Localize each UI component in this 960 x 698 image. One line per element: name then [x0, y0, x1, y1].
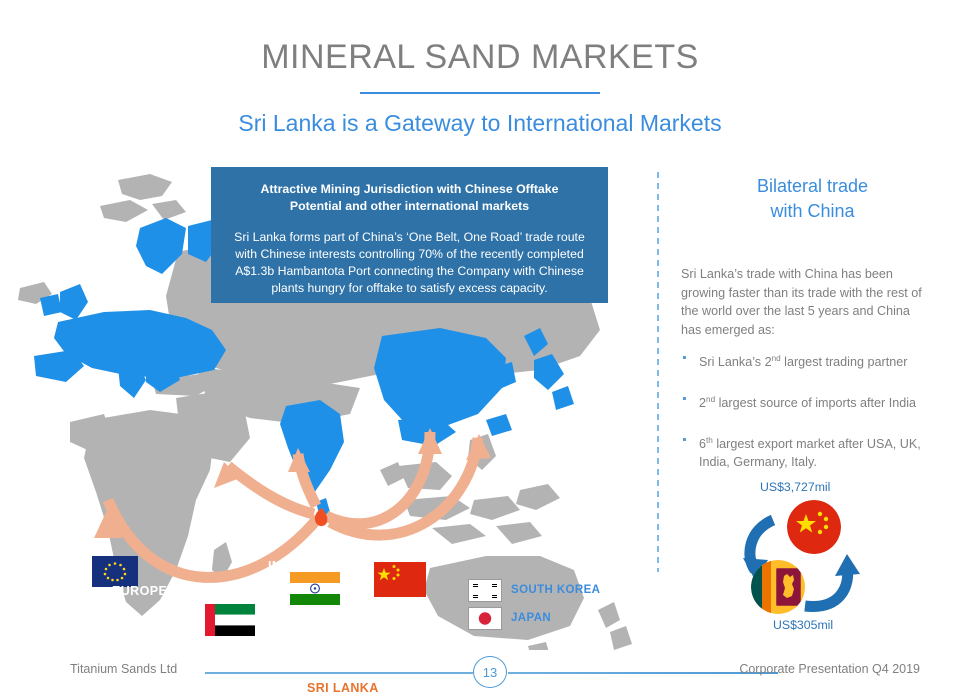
list-item: 6th largest export market after USA, UK,…	[681, 432, 933, 470]
map-label-sri-lanka: SRI LANKA	[307, 681, 379, 695]
footer-rule-right	[508, 672, 778, 674]
list-item: 2nd largest source of imports after Indi…	[681, 391, 933, 412]
bullet-text-after: largest source of imports after India	[715, 396, 916, 410]
panel-title: Bilateral trade with China	[680, 174, 945, 224]
page-number: 13	[473, 656, 507, 688]
legend-label-south-korea: SOUTH KOREA	[511, 584, 600, 596]
bullet-text-before: Sri Lanka’s 2	[699, 355, 772, 369]
page-subtitle: Sri Lanka is a Gateway to International …	[0, 110, 960, 137]
callout-heading-line2: Potential and other international market…	[227, 198, 592, 215]
japan-flag-icon	[468, 607, 502, 630]
footer-rule-left	[205, 672, 473, 674]
europe-flag-icon	[92, 556, 138, 587]
map-label-uae: UAE	[213, 592, 241, 606]
china-flag-icon	[374, 562, 426, 597]
panel-title-line2: with China	[680, 199, 945, 224]
map-label-europe: EUROPE	[112, 584, 167, 598]
legend-label-japan: JAPAN	[511, 612, 551, 624]
legend-item-south-korea: SOUTH KOREA	[468, 576, 600, 604]
map-label-india: INDIA	[268, 559, 304, 573]
callout-body: Sri Lanka forms part of China’s ‘One Bel…	[227, 229, 592, 297]
bullet-text-before: 2	[699, 396, 706, 410]
uae-flag-icon	[205, 604, 255, 636]
panel-bullet-list: Sri Lanka’s 2nd largest trading partner …	[681, 350, 933, 491]
bullet-text-before: 6	[699, 438, 706, 452]
callout-heading: Attractive Mining Jurisdiction with Chin…	[227, 181, 592, 215]
sri-lanka-flag-icon	[751, 560, 805, 614]
china-flag-icon	[787, 500, 841, 554]
panel-title-line1: Bilateral trade	[680, 174, 945, 199]
map-legend: SOUTH KOREA JAPAN	[468, 576, 600, 632]
bullet-ordinal-sup: nd	[772, 354, 781, 363]
bilateral-trade-diagram: US$3,727mil US$305mil	[735, 478, 920, 643]
panel-intro-text: Sri Lanka’s trade with China has been gr…	[681, 265, 929, 339]
bullet-ordinal-sup: nd	[706, 395, 715, 404]
map-label-china: CHINA	[379, 551, 421, 565]
india-flag-icon	[290, 572, 340, 605]
footer-presentation-name: Corporate Presentation Q4 2019	[739, 662, 920, 676]
south-korea-flag-icon	[468, 579, 502, 602]
bullet-text-after: largest export market after USA, UK, Ind…	[699, 438, 921, 469]
list-item: Sri Lanka’s 2nd largest trading partner	[681, 350, 933, 371]
page-title: MINERAL SAND MARKETS	[0, 38, 960, 77]
bullet-text-after: largest trading partner	[781, 355, 908, 369]
title-underline	[360, 92, 600, 94]
footer-company: Titanium Sands Ltd	[70, 662, 177, 676]
bullet-ordinal-sup: th	[706, 436, 713, 445]
legend-item-japan: JAPAN	[468, 604, 600, 632]
slide: MINERAL SAND MARKETS Sri Lanka is a Gate…	[0, 0, 960, 698]
vertical-divider	[657, 172, 659, 572]
callout-box: Attractive Mining Jurisdiction with Chin…	[211, 167, 608, 303]
callout-heading-line1: Attractive Mining Jurisdiction with Chin…	[227, 181, 592, 198]
